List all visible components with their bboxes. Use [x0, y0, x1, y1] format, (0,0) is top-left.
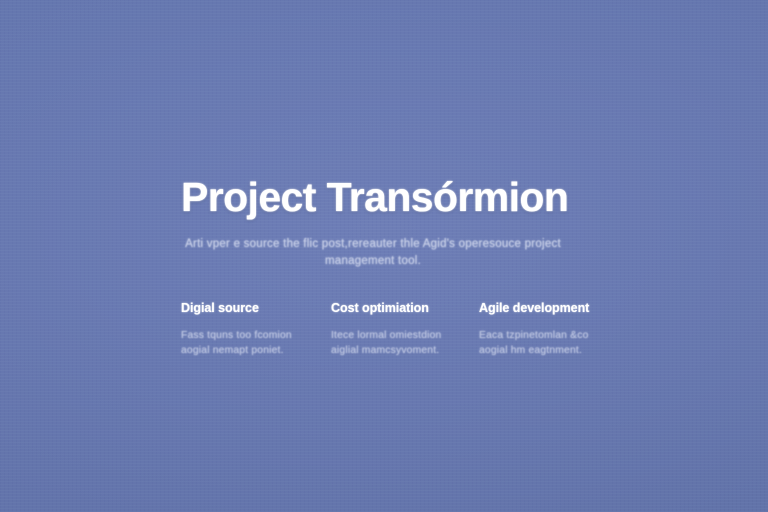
feature-heading: Cost optimiation [331, 300, 467, 316]
hero-slide: Project Transórmion Arti vper e source t… [0, 0, 768, 512]
feature-body: Itece lormal omiestdion aiglial mamcsyvo… [331, 328, 467, 358]
feature-body: Fass tquns too fcomion aogial nemapt pon… [181, 328, 319, 358]
feature-body: Eaca tzpinetomlan &co aogial hm eagtnmen… [479, 328, 605, 358]
feature-heading: Digial source [181, 300, 319, 316]
page-title: Project Transórmion [181, 172, 589, 222]
feature-columns: Digial source Fass tquns too fcomion aog… [181, 300, 605, 358]
hero-content-block: Project Transórmion Arti vper e source t… [181, 172, 589, 269]
feature-column-digial-source: Digial source Fass tquns too fcomion aog… [181, 300, 331, 358]
feature-column-cost-optimiation: Cost optimiation Itece lormal omiestdion… [331, 300, 479, 358]
feature-heading: Agile development [479, 300, 605, 316]
feature-column-agile-development: Agile development Eaca tzpinetomlan &co … [479, 300, 605, 358]
hero-subtitle: Arti vper e source the flic post,rereaut… [181, 236, 565, 269]
